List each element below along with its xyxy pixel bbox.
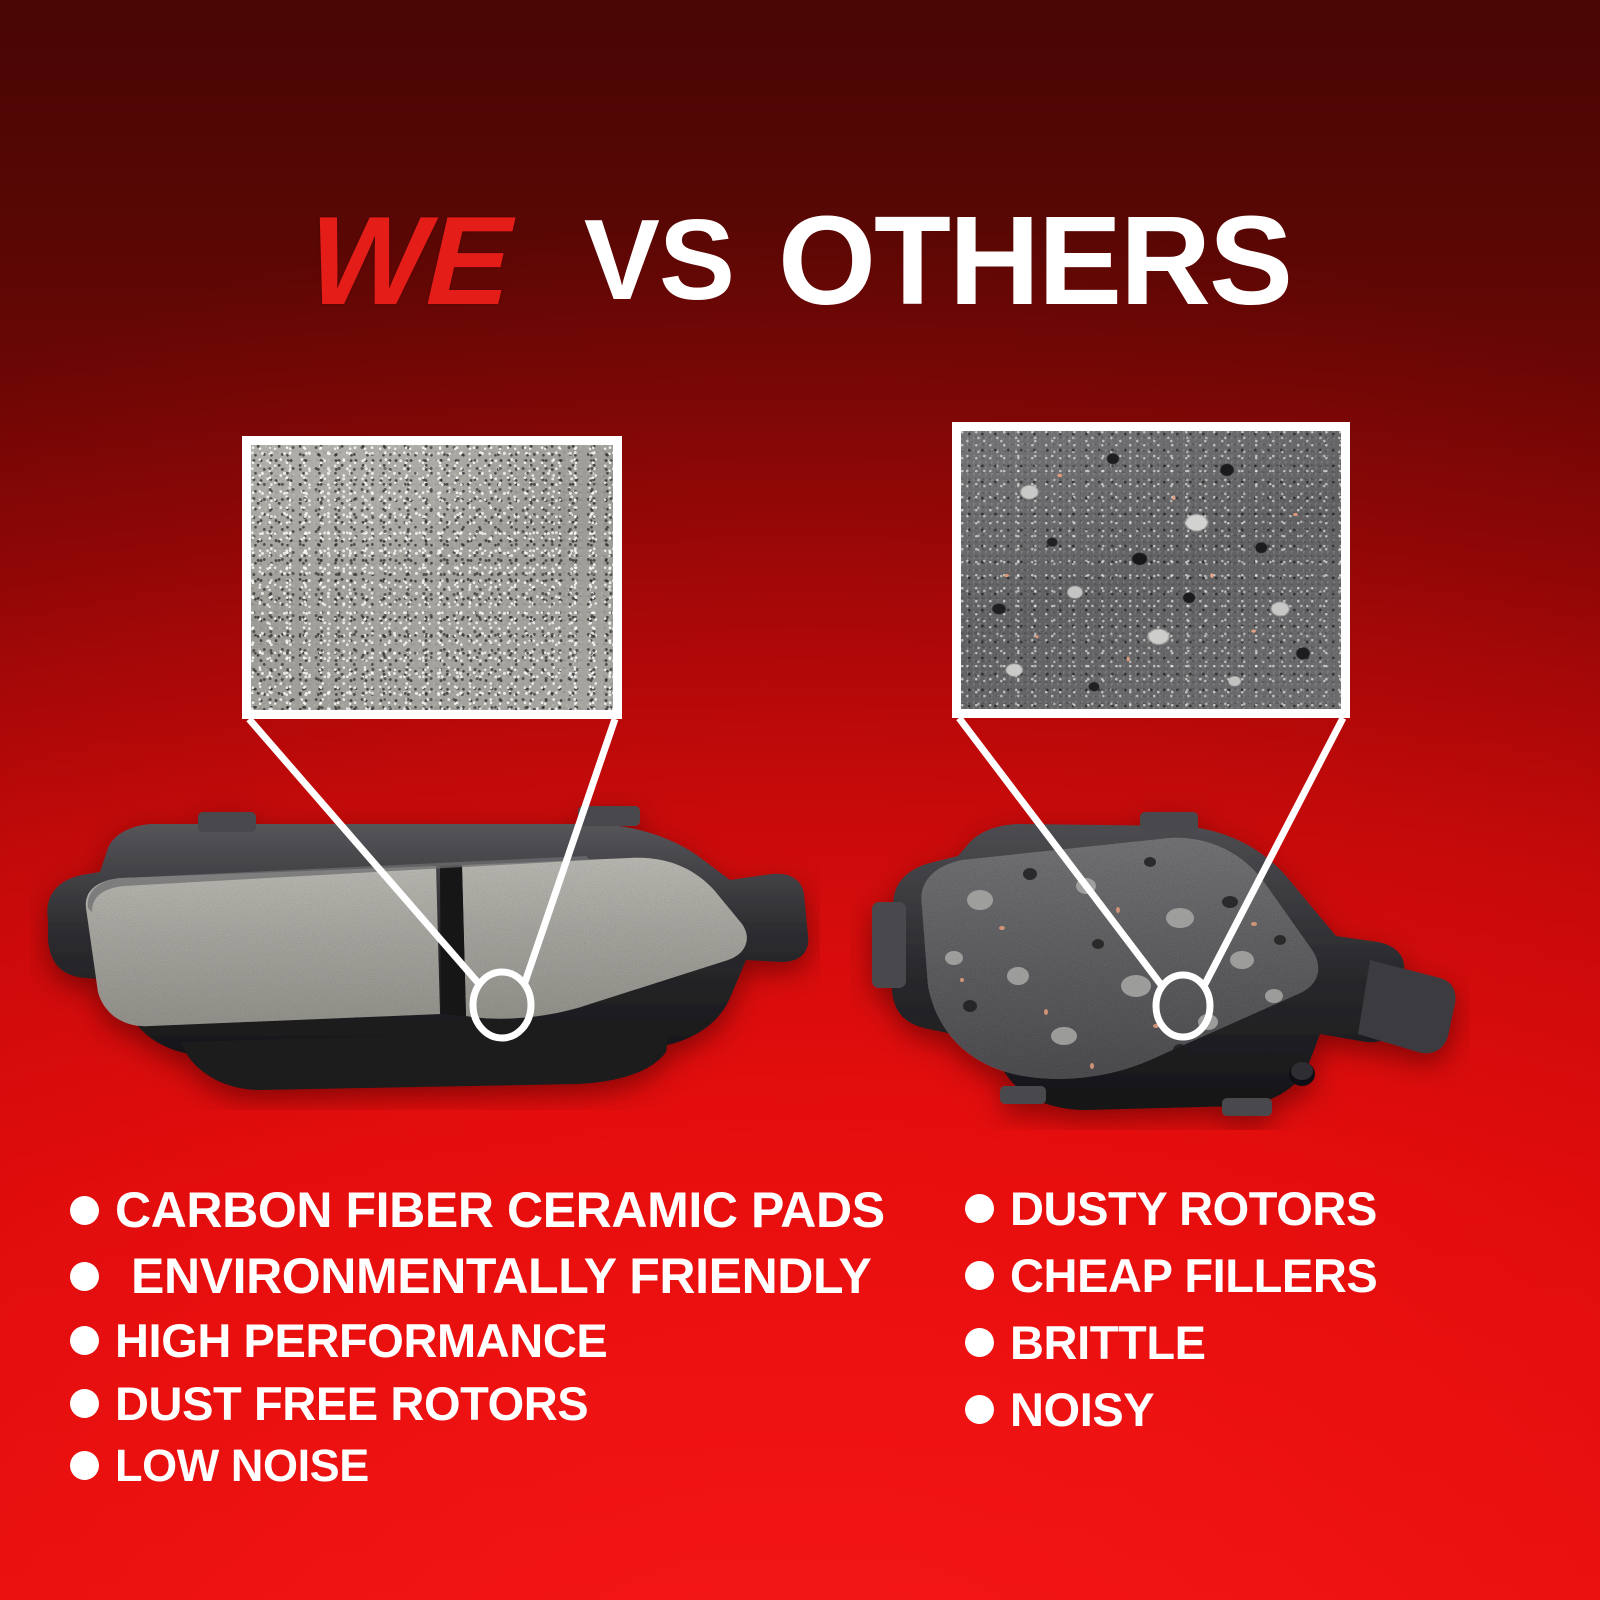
bullet-dot-icon (70, 1326, 99, 1355)
header-others-label: OTHERS (778, 198, 1291, 324)
list-item-label: CHEAP FILLERS (1010, 1252, 1377, 1299)
header: WE VS OTHERS (0, 186, 1600, 336)
list-item: ENVIRONMENTALLY FRIENDLY (70, 1251, 900, 1301)
others-pad-svg (850, 790, 1470, 1130)
list-item-label: BRITTLE (1010, 1319, 1206, 1366)
list-item-label: NOISY (1010, 1386, 1154, 1433)
list-item-label: LOW NOISE (115, 1443, 369, 1488)
header-vs-label: VS (584, 204, 734, 318)
bullet-dot-icon (70, 1389, 99, 1418)
swatch-others-magnified (952, 422, 1350, 718)
list-item: BRITTLE (965, 1319, 1525, 1366)
list-item-label: CARBON FIBER CERAMIC PADS (115, 1185, 885, 1235)
texture-fine-ceramic (251, 445, 613, 710)
header-we-label: WE (307, 198, 512, 324)
list-item: NOISY (965, 1386, 1525, 1433)
bullet-dot-icon (70, 1451, 99, 1480)
list-item: DUSTY ROTORS (965, 1185, 1525, 1232)
list-item: HIGH PERFORMANCE (70, 1317, 900, 1364)
we-pad-svg (30, 790, 820, 1110)
feature-list-we: CARBON FIBER CERAMIC PADS ENVIRONMENTALL… (70, 1185, 900, 1504)
comparison-infographic: WE VS OTHERS (0, 0, 1600, 1600)
feature-list-others: DUSTY ROTORS CHEAP FILLERS BRITTLE NOISY (965, 1185, 1525, 1453)
bullet-dot-icon (70, 1262, 99, 1291)
bullet-dot-icon (965, 1395, 994, 1424)
bullet-dot-icon (965, 1328, 994, 1357)
list-item: CHEAP FILLERS (965, 1252, 1525, 1299)
product-image-others-brake-pad (850, 790, 1470, 1130)
bullet-dot-icon (70, 1196, 99, 1225)
swatch-we-magnified (242, 436, 622, 719)
list-item: CARBON FIBER CERAMIC PADS (70, 1185, 900, 1235)
bullet-dot-icon (965, 1194, 994, 1223)
list-item-label: DUST FREE ROTORS (115, 1380, 588, 1427)
bullet-dot-icon (965, 1261, 994, 1290)
product-image-we-brake-pad (30, 790, 820, 1110)
list-item-label: DUSTY ROTORS (1010, 1185, 1377, 1232)
list-item-label: ENVIRONMENTALLY FRIENDLY (131, 1251, 872, 1301)
list-item-label: HIGH PERFORMANCE (115, 1317, 607, 1364)
list-item: DUST FREE ROTORS (70, 1380, 900, 1427)
list-item: LOW NOISE (70, 1443, 900, 1488)
texture-coarse-filler (961, 431, 1341, 709)
